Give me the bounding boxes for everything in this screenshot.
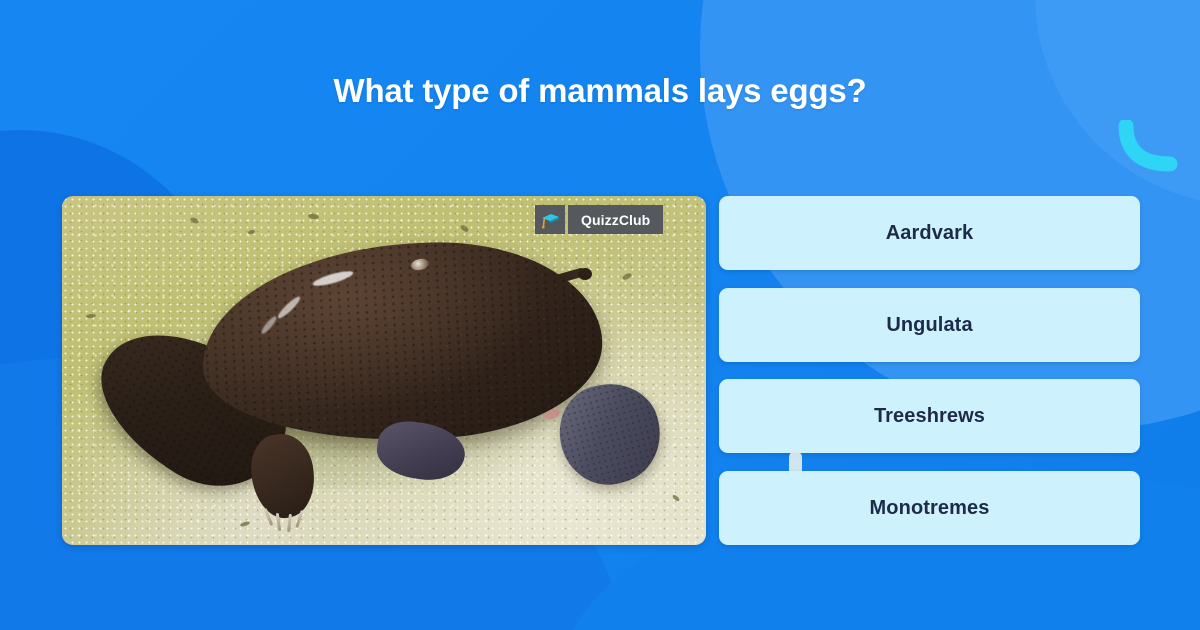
- graduation-cap-icon: [535, 205, 565, 234]
- answer-option-label: Ungulata: [886, 314, 972, 337]
- platypus-spur-tip: [578, 268, 592, 280]
- answer-option-label: Monotremes: [870, 497, 990, 520]
- platypus-photo: [62, 196, 706, 545]
- answer-option-0[interactable]: Aardvark: [719, 196, 1140, 270]
- answer-option-1[interactable]: Ungulata: [719, 288, 1140, 362]
- question-title: What type of mammals lays eggs?: [0, 72, 1200, 110]
- answer-list: Aardvark Ungulata Treeshrews Monotremes: [719, 196, 1140, 546]
- watermark: QuizzClub: [535, 205, 663, 234]
- answer-option-2[interactable]: Treeshrews: [719, 379, 1140, 453]
- question-image: QuizzClub: [62, 196, 706, 545]
- answer-option-label: Aardvark: [886, 222, 974, 245]
- watermark-brand-label: QuizzClub: [568, 205, 663, 234]
- answer-option-label: Treeshrews: [874, 405, 985, 428]
- decor-swoosh-icon: [1118, 120, 1180, 172]
- answer-option-3[interactable]: Monotremes: [719, 471, 1140, 545]
